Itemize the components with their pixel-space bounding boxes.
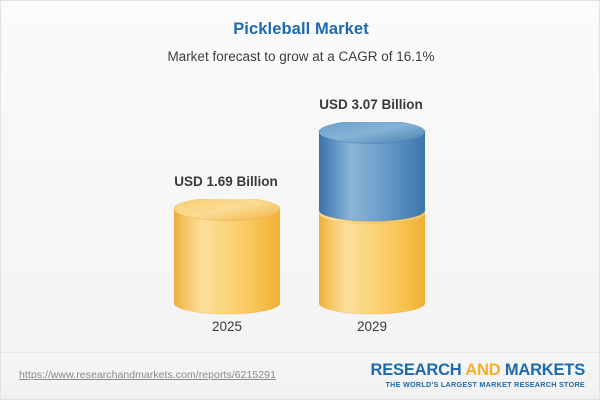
brand-word-and: AND <box>462 361 505 379</box>
brand-wordmark: RESEARCH AND MARKETS <box>371 361 586 379</box>
footer: https://www.researchandmarkets.com/repor… <box>1 352 599 399</box>
bar-segment-growth-2029 <box>319 132 425 221</box>
bar-segment-base-2029 <box>319 213 425 314</box>
brand-word-research: RESEARCH <box>371 361 462 379</box>
brand-logo[interactable]: RESEARCH AND MARKETS THE WORLD'S LARGEST… <box>371 361 586 390</box>
cylinder-bar-2029 <box>318 122 426 315</box>
bar-value-label-2029: USD 3.07 Billion <box>261 97 481 112</box>
brand-tagline: THE WORLD'S LARGEST MARKET RESEARCH STOR… <box>371 380 586 390</box>
infographic-card: Pickleball Market Market forecast to gro… <box>0 0 600 400</box>
bar-category-label-2029: 2029 <box>262 319 482 334</box>
chart-plot-area: USD 1.69 Billion <box>1 1 600 353</box>
bar-value-label-2025: USD 1.69 Billion <box>116 174 336 189</box>
report-url-link[interactable]: https://www.researchandmarkets.com/repor… <box>19 369 276 381</box>
cylinder-bar-2025 <box>173 199 281 315</box>
brand-word-markets: MARKETS <box>505 361 585 379</box>
